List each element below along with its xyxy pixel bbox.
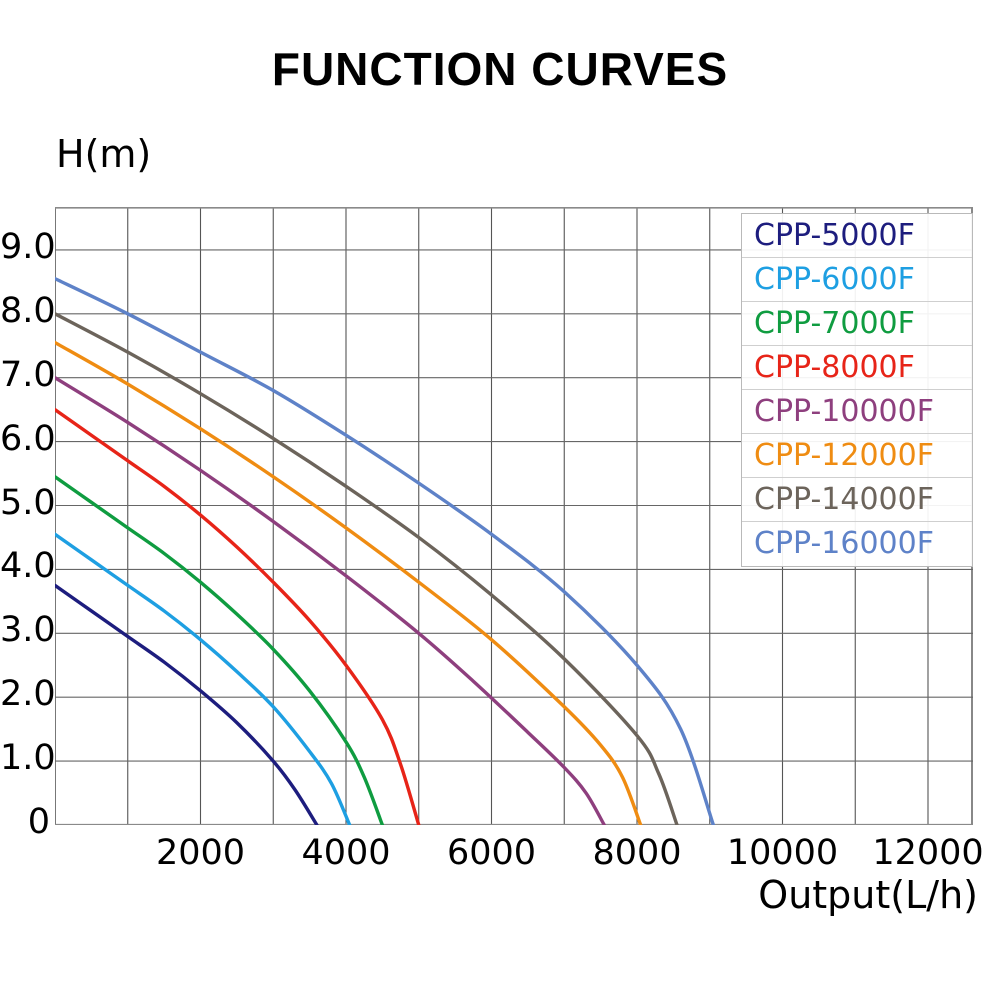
x-tick-label: 10000 xyxy=(713,833,853,873)
legend-item-cpp-6000f[interactable]: CPP-6000F xyxy=(742,258,972,302)
series-line-cpp-5000f xyxy=(55,585,317,825)
chart-title: FUNCTION CURVES xyxy=(0,42,1000,96)
legend-item-cpp-14000f[interactable]: CPP-14000F xyxy=(742,478,972,522)
series-line-cpp-6000f xyxy=(55,534,350,825)
legend-item-cpp-16000f[interactable]: CPP-16000F xyxy=(742,522,972,566)
y-tick-label: 7.0 xyxy=(0,355,50,395)
legend-item-cpp-8000f[interactable]: CPP-8000F xyxy=(742,346,972,390)
x-tick-label: 12000 xyxy=(858,833,998,873)
y-tick-label: 3.0 xyxy=(0,610,50,650)
y-tick-label: 0 xyxy=(0,802,50,842)
y-tick-label: 4.0 xyxy=(0,546,50,586)
legend-item-cpp-7000f[interactable]: CPP-7000F xyxy=(742,302,972,346)
x-tick-label: 6000 xyxy=(422,833,562,873)
legend-item-cpp-12000f[interactable]: CPP-12000F xyxy=(742,434,972,478)
y-tick-label: 9.0 xyxy=(0,227,50,267)
series-line-cpp-16000f xyxy=(55,279,713,825)
y-tick-label: 2.0 xyxy=(0,674,50,714)
series-line-cpp-10000f xyxy=(55,378,604,825)
y-tick-label: 5.0 xyxy=(0,483,50,523)
legend: CPP-5000FCPP-6000FCPP-7000FCPP-8000FCPP-… xyxy=(741,213,973,567)
x-axis-label: Output(L/h) xyxy=(0,873,978,917)
y-tick-label: 8.0 xyxy=(0,291,50,331)
legend-item-cpp-5000f[interactable]: CPP-5000F xyxy=(742,214,972,258)
series-line-cpp-8000f xyxy=(55,410,419,825)
x-tick-label: 2000 xyxy=(131,833,271,873)
y-tick-label: 6.0 xyxy=(0,419,50,459)
y-tick-label: 1.0 xyxy=(0,738,50,778)
x-tick-label: 8000 xyxy=(567,833,707,873)
x-tick-label: 4000 xyxy=(276,833,416,873)
function-curves-chart: FUNCTION CURVES H(m) 01.02.03.04.05.06.0… xyxy=(0,0,1000,1001)
legend-item-cpp-10000f[interactable]: CPP-10000F xyxy=(742,390,972,434)
y-axis-label: H(m) xyxy=(56,132,151,176)
